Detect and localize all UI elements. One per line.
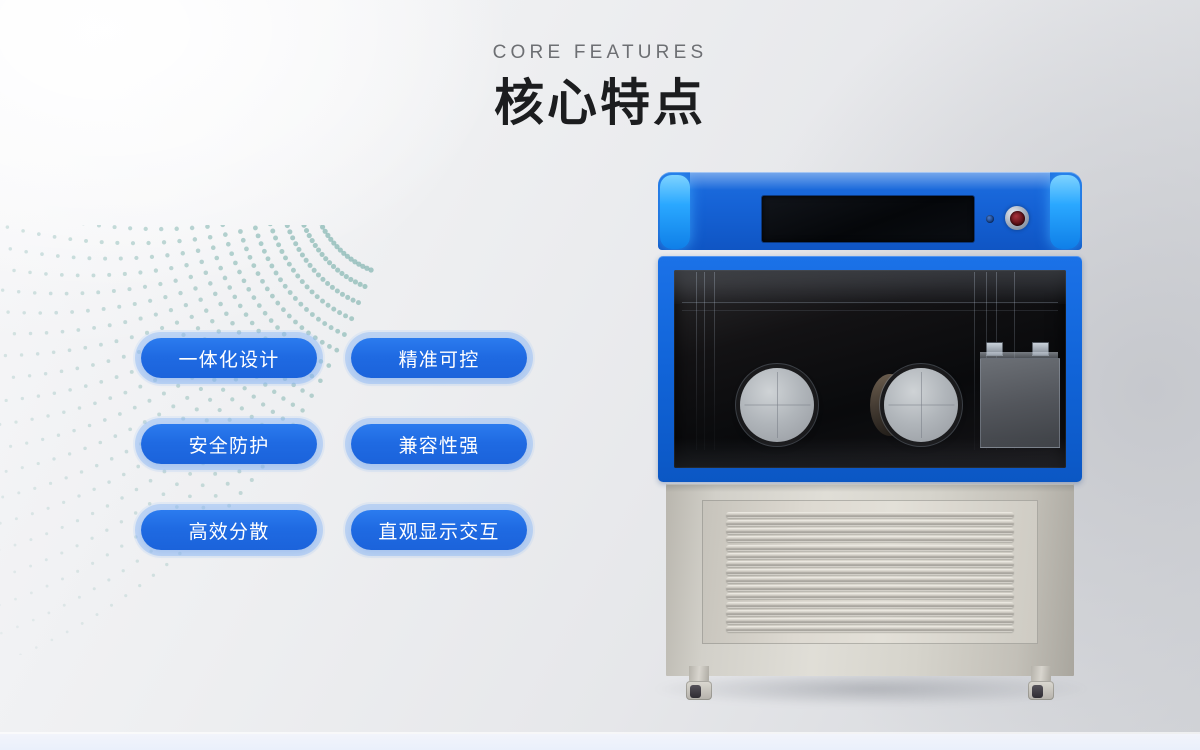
louver-slat	[726, 602, 1014, 608]
chamber-housing	[658, 256, 1082, 482]
feature-pill-safety-protection[interactable]: 安全防护	[141, 424, 317, 464]
louver-slat	[726, 626, 1014, 632]
slide-canvas: CORE FEATURES 核心特点 一体化设计 精准可控 安全防护 兼容性强 …	[0, 0, 1200, 750]
page-title: 核心特点	[0, 72, 1200, 134]
interior-vertical-line	[704, 272, 705, 450]
louver-slat	[726, 585, 1014, 591]
power-button[interactable]	[1005, 206, 1029, 230]
louver-vent-panel	[726, 512, 1014, 632]
louver-slat	[726, 577, 1014, 583]
header-sheen	[690, 172, 1050, 190]
interior-floor	[674, 438, 1066, 468]
viewing-window	[674, 270, 1066, 468]
status-led-icon	[986, 215, 994, 223]
louver-slat	[726, 561, 1014, 567]
caster-wheel-right	[1028, 666, 1054, 700]
louver-slat	[726, 593, 1014, 599]
heading-block: CORE FEATURES 核心特点	[0, 40, 1200, 134]
louver-slat	[726, 569, 1014, 575]
interior-vertical-line	[974, 272, 975, 450]
feature-pill-efficient-dispersion[interactable]: 高效分散	[141, 510, 317, 550]
vent-panel-frame	[702, 500, 1038, 644]
louver-slat	[726, 553, 1014, 559]
louver-slat	[726, 520, 1014, 526]
feature-pill-precise-control[interactable]: 精准可控	[351, 338, 527, 378]
glove-port-left[interactable]	[740, 368, 814, 442]
louver-slat	[726, 536, 1014, 542]
interior-rail	[682, 302, 1058, 303]
header-glow-left	[660, 175, 690, 249]
window-top-reflection	[674, 270, 1066, 304]
feature-row: 高效分散 直观显示交互	[141, 510, 541, 550]
control-header	[658, 172, 1082, 250]
louver-slat	[726, 545, 1014, 551]
pass-through-chamber[interactable]	[980, 358, 1060, 448]
louver-slat	[726, 528, 1014, 534]
base-top-shade	[666, 484, 1074, 492]
feature-pill-intuitive-display[interactable]: 直观显示交互	[351, 510, 527, 550]
caster-wheel-left	[686, 666, 712, 700]
interior-rail-secondary	[682, 310, 1058, 311]
stainless-steel-base	[666, 484, 1074, 676]
product-drop-shadow	[656, 672, 1086, 706]
product-image	[650, 172, 1090, 702]
louver-slat	[726, 618, 1014, 624]
feature-row: 安全防护 兼容性强	[141, 424, 541, 464]
louver-slat	[726, 610, 1014, 616]
glove-port-right[interactable]	[884, 368, 958, 442]
feature-row: 一体化设计 精准可控	[141, 338, 541, 378]
page-eyebrow: CORE FEATURES	[0, 40, 1200, 66]
control-display-screen[interactable]	[762, 196, 974, 242]
feature-pill-grid: 一体化设计 精准可控 安全防护 兼容性强 高效分散 直观显示交互	[141, 338, 541, 550]
feature-pill-integrated-design[interactable]: 一体化设计	[141, 338, 317, 378]
interior-vertical-line	[696, 272, 697, 450]
feature-pill-compatibility[interactable]: 兼容性强	[351, 424, 527, 464]
louver-slat	[726, 512, 1014, 518]
header-glow-right	[1050, 175, 1080, 249]
interior-vertical-line	[714, 272, 715, 450]
caster-wheel	[1028, 681, 1054, 700]
bottom-accent-band	[0, 734, 1200, 750]
caster-wheel	[686, 681, 712, 700]
